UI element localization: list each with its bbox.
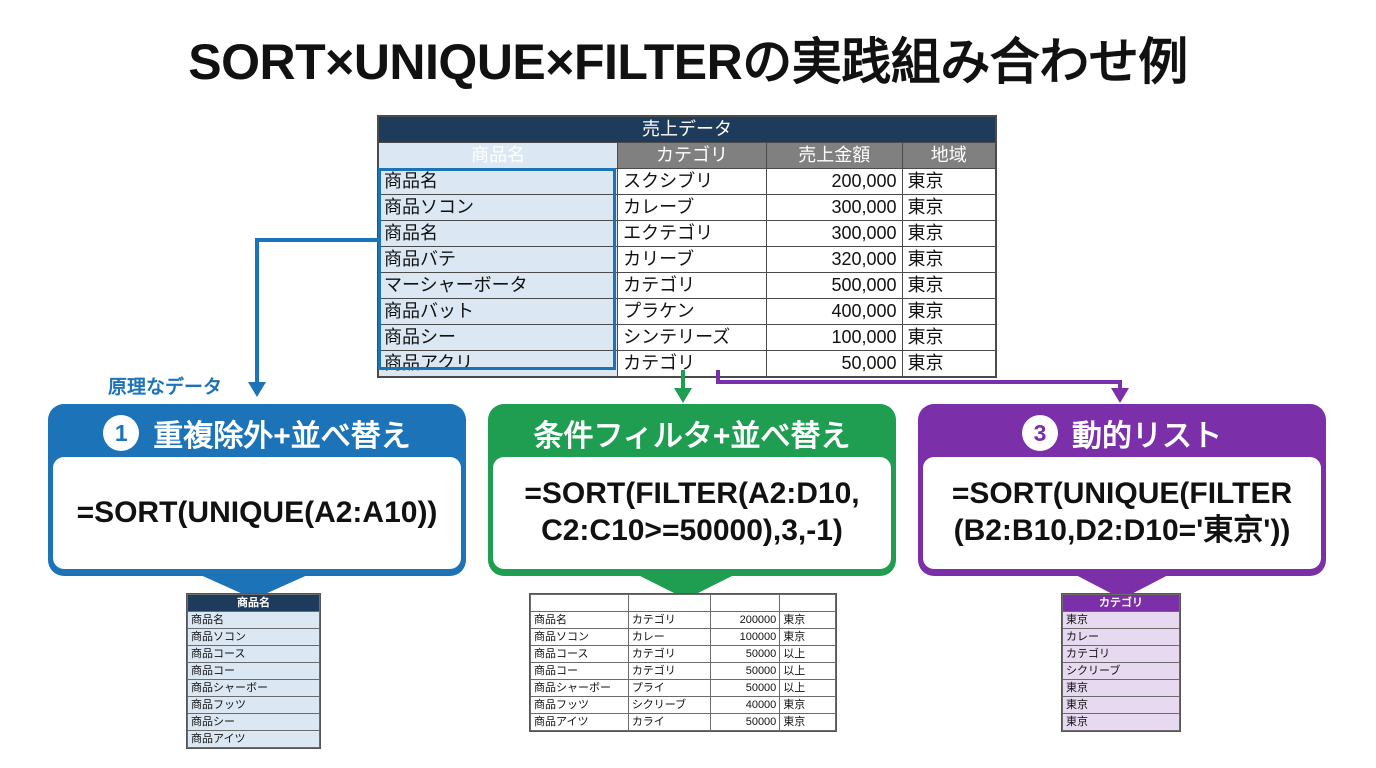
table-row: 東京 <box>1063 680 1180 697</box>
cell-product: 商品名 <box>188 612 320 629</box>
page-title: SORT×UNIQUE×FILTERの実践組み合わせ例 <box>0 22 1376 94</box>
cell-region: 東京 <box>780 629 836 646</box>
table-row: 商品アイツ カライ 50000 東京 <box>531 714 836 731</box>
cell-category: シクリーブ <box>628 697 710 714</box>
cell-category: カレー <box>628 629 710 646</box>
table-row: 東京 <box>1063 697 1180 714</box>
cell-category: エクテゴリ <box>618 221 767 247</box>
cell-amount: 300,000 <box>766 221 902 247</box>
card-duplicate-removal[interactable]: 1 重複除外+並べ替え =SORT(UNIQUE(A2:A10)) <box>48 404 466 576</box>
cell-amount: 50000 <box>710 680 780 697</box>
connector-blue-vertical <box>255 238 259 384</box>
connector-blue-horizontal <box>255 238 381 242</box>
cell-region: 以上 <box>780 646 836 663</box>
table-row: 商品フッツ シクリーブ 40000 東京 <box>531 697 836 714</box>
cell-category: シクリーブ <box>1063 663 1180 680</box>
column-header-region: 地域 <box>780 595 836 612</box>
cell-amount: 50,000 <box>766 351 902 377</box>
table-header-row: カテゴリ <box>1063 595 1180 612</box>
table-row: 商品バテ カリーブ 320,000 東京 <box>379 247 996 273</box>
table-row: マーシャーボータ カテゴリ 500,000 東京 <box>379 273 996 299</box>
cell-category: カテゴリ <box>618 273 767 299</box>
table-row: 商品コー カテゴリ 50000 以上 <box>531 663 836 680</box>
cell-amount: 300,000 <box>766 195 902 221</box>
cell-product: 商品バテ <box>379 247 618 273</box>
table-row: 商品コース カテゴリ 50000 以上 <box>531 646 836 663</box>
column-header-amount: 売上金額 <box>766 143 902 169</box>
column-header-product: 商品名 <box>531 595 629 612</box>
table-row: 商品ソコン カレー 100000 東京 <box>531 629 836 646</box>
cell-category: シンテリーズ <box>618 325 767 351</box>
column-header-category: カテゴリ <box>618 143 767 169</box>
cell-product: 商品シー <box>379 325 618 351</box>
card1-formula: =SORT(UNIQUE(A2:A10)) <box>53 457 461 569</box>
table-row: 商品名 <box>188 612 320 629</box>
table-header-row: 商品名 カテゴリ 売上金額 地域 <box>531 595 836 612</box>
cell-category: カテゴリ <box>618 351 767 377</box>
cell-amount: 100,000 <box>766 325 902 351</box>
source-table-caption: 売上データ <box>379 117 996 143</box>
connector-purple-arrowhead <box>1111 388 1129 403</box>
table-row: カレー <box>1063 629 1180 646</box>
cell-product: 商品ソコン <box>188 629 320 646</box>
column-header-product: 商品名 <box>188 595 320 612</box>
cell-category: 東京 <box>1063 714 1180 731</box>
cell-category: プラケン <box>618 299 767 325</box>
cell-region: 東京 <box>902 195 995 221</box>
cell-category: カライ <box>628 714 710 731</box>
source-data-table: 売上データ 商品名 カテゴリ 売上金額 地域 商品名 スクシブリ 200,000… <box>378 116 996 377</box>
table-row: 商品シー <box>188 714 320 731</box>
table-header-row: 商品名 <box>188 595 320 612</box>
cell-product: 商品バット <box>379 299 618 325</box>
cell-product: 商品シャーボー <box>188 680 320 697</box>
cell-product: 商品フッツ <box>531 697 629 714</box>
cell-product: 商品ソコン <box>379 195 618 221</box>
column-header-amount: 売上金額 <box>710 595 780 612</box>
table-row: 商品シー シンテリーズ 100,000 東京 <box>379 325 996 351</box>
cell-region: 東京 <box>902 247 995 273</box>
card3-heading: 動的リスト <box>1072 411 1222 455</box>
table-row: カテゴリ <box>1063 646 1180 663</box>
result-table-right: カテゴリ 東京 カレー カテゴリ シクリーブ 東京 東京 東京 <box>1062 594 1180 731</box>
table-row: 商品名 スクシブリ 200,000 東京 <box>379 169 996 195</box>
cell-product: 商品ソコン <box>531 629 629 646</box>
connector-purple-horizontal <box>716 380 1122 384</box>
result-table-left: 商品名 商品名 商品ソコン 商品コース 商品コー 商品シャーボー 商品フッツ 商… <box>187 594 320 748</box>
slide-canvas: SORT×UNIQUE×FILTERの実践組み合わせ例 売上データ 商品名 カテ… <box>0 0 1376 768</box>
card2-heading: 条件フィルタ+並べ替え <box>534 411 851 455</box>
connector-green-arrowhead <box>674 388 692 403</box>
result-table-middle: 商品名 カテゴリ 売上金額 地域 商品名 カテゴリ 200000 東京 商品ソコ… <box>530 594 836 731</box>
raw-data-label: 原理なデータ <box>108 372 222 399</box>
cell-product: 商品アクリ <box>379 351 618 377</box>
cell-product: 商品名 <box>379 221 618 247</box>
cell-region: 以上 <box>780 680 836 697</box>
cell-category: カテゴリ <box>628 663 710 680</box>
cell-region: 東京 <box>902 169 995 195</box>
cell-product: 商品シー <box>188 714 320 731</box>
column-header-category: カテゴリ <box>628 595 710 612</box>
cell-category: カテゴリ <box>1063 646 1180 663</box>
cell-product: 商品コー <box>531 663 629 680</box>
cell-region: 東京 <box>902 273 995 299</box>
table-row: 商品アクリ カテゴリ 50,000 東京 <box>379 351 996 377</box>
cell-region: 東京 <box>780 714 836 731</box>
card1-heading: 重複除外+並べ替え <box>153 411 411 455</box>
cell-product: 商品名 <box>531 612 629 629</box>
cell-product: 商品名 <box>379 169 618 195</box>
cell-region: 以上 <box>780 663 836 680</box>
cell-category: カレー <box>1063 629 1180 646</box>
cell-product: 商品アイツ <box>188 731 320 748</box>
table-row: 東京 <box>1063 612 1180 629</box>
column-header-region: 地域 <box>902 143 995 169</box>
cell-product: 商品フッツ <box>188 697 320 714</box>
cell-amount: 50000 <box>710 663 780 680</box>
card3-formula: =SORT(UNIQUE(FILTER (B2:B10,D2:D10='東京')… <box>923 457 1321 569</box>
table-row: 商品シャーボー <box>188 680 320 697</box>
table-row: 商品ソコン <box>188 629 320 646</box>
cell-region: 東京 <box>902 299 995 325</box>
table-row: シクリーブ <box>1063 663 1180 680</box>
cell-product: マーシャーボータ <box>379 273 618 299</box>
cell-category: カレーブ <box>618 195 767 221</box>
cell-amount: 50000 <box>710 714 780 731</box>
cell-product: 商品シャーボー <box>531 680 629 697</box>
column-header-product: 商品名 <box>379 143 618 169</box>
card-dynamic-list[interactable]: 3 動的リスト =SORT(UNIQUE(FILTER (B2:B10,D2:D… <box>918 404 1326 576</box>
cell-region: 東京 <box>902 221 995 247</box>
cell-amount: 40000 <box>710 697 780 714</box>
table-row: 商品シャーボー プライ 50000 以上 <box>531 680 836 697</box>
cell-region: 東京 <box>902 325 995 351</box>
table-row: 商品名 エクテゴリ 300,000 東京 <box>379 221 996 247</box>
connector-blue-arrowhead <box>248 382 266 397</box>
card1-header: 1 重複除外+並べ替え <box>53 409 461 457</box>
card-conditional-filter[interactable]: 条件フィルタ+並べ替え =SORT(FILTER(A2:D10, C2:C10>… <box>488 404 896 576</box>
cell-category: カリーブ <box>618 247 767 273</box>
cell-category: 東京 <box>1063 612 1180 629</box>
table-row: 商品アイツ <box>188 731 320 748</box>
cell-amount: 200,000 <box>766 169 902 195</box>
cell-region: 東京 <box>780 697 836 714</box>
cell-product: 商品コー <box>188 663 320 680</box>
table-row: 商品コース <box>188 646 320 663</box>
cell-amount: 50000 <box>710 646 780 663</box>
cell-amount: 100000 <box>710 629 780 646</box>
table-row: 商品バット プラケン 400,000 東京 <box>379 299 996 325</box>
cell-category: スクシブリ <box>618 169 767 195</box>
card2-header: 条件フィルタ+並べ替え <box>493 409 891 457</box>
card2-formula: =SORT(FILTER(A2:D10, C2:C10>=50000),3,-1… <box>493 457 891 569</box>
cell-category: 東京 <box>1063 680 1180 697</box>
cell-category: カテゴリ <box>628 612 710 629</box>
card3-number-badge: 3 <box>1022 415 1058 451</box>
cell-category: カテゴリ <box>628 646 710 663</box>
table-row: 商品名 カテゴリ 200000 東京 <box>531 612 836 629</box>
cell-amount: 400,000 <box>766 299 902 325</box>
column-header-category: カテゴリ <box>1063 595 1180 612</box>
table-row: 商品コー <box>188 663 320 680</box>
table-row: 東京 <box>1063 714 1180 731</box>
cell-product: 商品コース <box>188 646 320 663</box>
table-row: 商品フッツ <box>188 697 320 714</box>
card3-header: 3 動的リスト <box>923 409 1321 457</box>
cell-product: 商品コース <box>531 646 629 663</box>
cell-product: 商品アイツ <box>531 714 629 731</box>
table-header-row: 商品名 カテゴリ 売上金額 地域 <box>379 143 996 169</box>
card1-number-badge: 1 <box>103 415 139 451</box>
cell-region: 東京 <box>902 351 995 377</box>
cell-category: 東京 <box>1063 697 1180 714</box>
table-row: 商品ソコン カレーブ 300,000 東京 <box>379 195 996 221</box>
cell-region: 東京 <box>780 612 836 629</box>
table-caption-row: 売上データ <box>379 117 996 143</box>
cell-amount: 200000 <box>710 612 780 629</box>
cell-amount: 500,000 <box>766 273 902 299</box>
cell-category: プライ <box>628 680 710 697</box>
cell-amount: 320,000 <box>766 247 902 273</box>
